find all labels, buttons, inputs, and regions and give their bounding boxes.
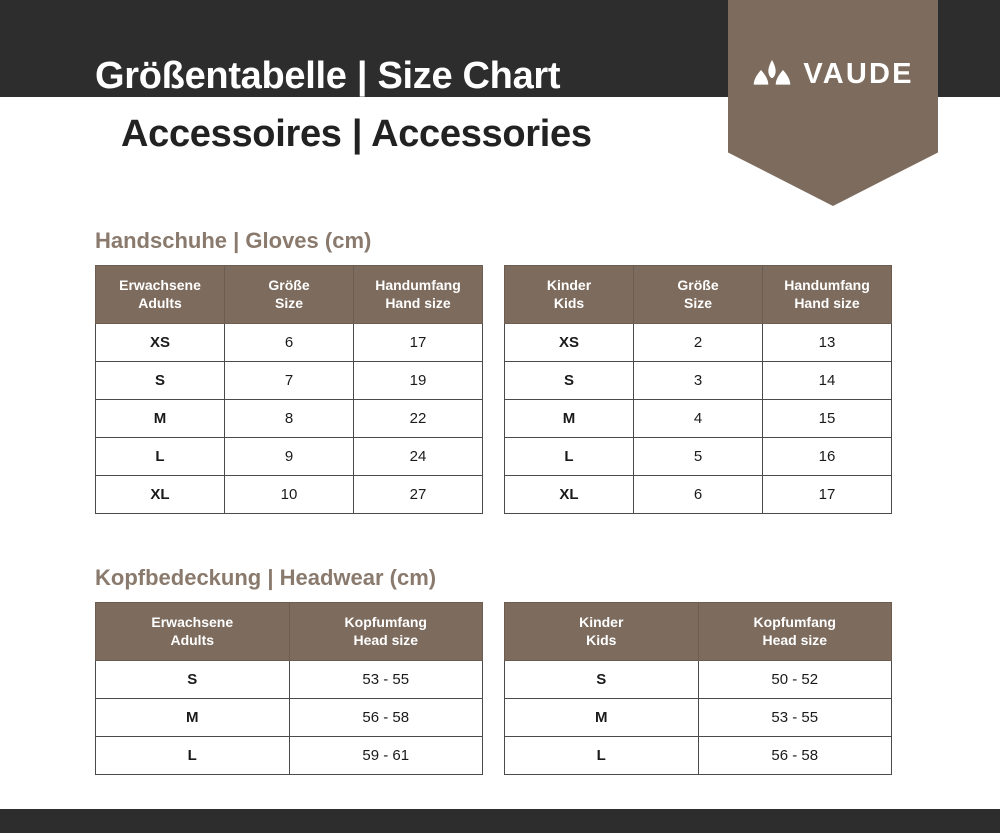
header-en: Head size bbox=[292, 632, 481, 650]
table-header-row: Erwachsene Adults Kopfumfang Head size bbox=[96, 603, 483, 661]
cell-size-label: S bbox=[96, 661, 290, 699]
column-header-measure: Handumfang Hand size bbox=[763, 266, 892, 324]
column-header-measure: Kopfumfang Head size bbox=[289, 603, 483, 661]
column-header-group: Erwachsene Adults bbox=[96, 266, 225, 324]
section-title-headwear: Kopfbedeckung | Headwear (cm) bbox=[95, 565, 436, 591]
table-row: XL 6 17 bbox=[505, 476, 892, 514]
table-headwear-kids: Kinder Kids Kopfumfang Head size S 50 - … bbox=[504, 602, 892, 775]
gloves-tables-row: Erwachsene Adults Größe Size Handumfang … bbox=[95, 265, 892, 514]
cell-size-value: 10 bbox=[225, 476, 354, 514]
cell-measure-value: 50 - 52 bbox=[698, 661, 892, 699]
cell-measure-value: 59 - 61 bbox=[289, 737, 483, 775]
cell-measure-value: 15 bbox=[763, 400, 892, 438]
table-header-row: Kinder Kids Kopfumfang Head size bbox=[505, 603, 892, 661]
table-row: S 50 - 52 bbox=[505, 661, 892, 699]
table-row: XS 6 17 bbox=[96, 324, 483, 362]
cell-measure-value: 22 bbox=[354, 400, 483, 438]
table-gloves-kids: Kinder Kids Größe Size Handumfang Hand s… bbox=[504, 265, 892, 514]
cell-size-label: L bbox=[96, 737, 290, 775]
cell-measure-value: 16 bbox=[763, 438, 892, 476]
cell-measure-value: 13 bbox=[763, 324, 892, 362]
section-title-gloves: Handschuhe | Gloves (cm) bbox=[95, 228, 371, 254]
cell-size-label: S bbox=[505, 661, 699, 699]
header-de: Erwachsene bbox=[98, 277, 222, 295]
table-row: M 56 - 58 bbox=[96, 699, 483, 737]
column-header-group: Kinder Kids bbox=[505, 603, 699, 661]
cell-size-value: 6 bbox=[634, 476, 763, 514]
header-de: Erwachsene bbox=[98, 614, 287, 632]
cell-size-label: M bbox=[505, 699, 699, 737]
vaude-three-petal-icon bbox=[752, 58, 792, 90]
header-en: Size bbox=[227, 295, 351, 313]
header-de: Kopfumfang bbox=[701, 614, 890, 632]
table-row: M 8 22 bbox=[96, 400, 483, 438]
table-headwear-adults: Erwachsene Adults Kopfumfang Head size S… bbox=[95, 602, 483, 775]
cell-measure-value: 53 - 55 bbox=[289, 661, 483, 699]
header-de: Größe bbox=[227, 277, 351, 295]
header-de: Kinder bbox=[507, 277, 631, 295]
cell-measure-value: 14 bbox=[763, 362, 892, 400]
cell-size-value: 5 bbox=[634, 438, 763, 476]
cell-size-label: XL bbox=[505, 476, 634, 514]
header-en: Kids bbox=[507, 632, 696, 650]
table-row: L 59 - 61 bbox=[96, 737, 483, 775]
header-de: Handumfang bbox=[356, 277, 480, 295]
column-header-size: Größe Size bbox=[634, 266, 763, 324]
brand-lockup: VAUDE bbox=[728, 58, 938, 90]
column-header-size: Größe Size bbox=[225, 266, 354, 324]
header-en: Adults bbox=[98, 632, 287, 650]
page-title: Größentabelle | Size Chart bbox=[95, 55, 560, 98]
header-en: Hand size bbox=[765, 295, 889, 313]
header-en: Hand size bbox=[356, 295, 480, 313]
cell-measure-value: 27 bbox=[354, 476, 483, 514]
cell-size-label: M bbox=[96, 699, 290, 737]
cell-size-label: L bbox=[505, 737, 699, 775]
cell-measure-value: 53 - 55 bbox=[698, 699, 892, 737]
cell-measure-value: 56 - 58 bbox=[289, 699, 483, 737]
cell-size-label: L bbox=[96, 438, 225, 476]
vaude-brand-banner: VAUDE bbox=[728, 0, 938, 206]
table-row: L 56 - 58 bbox=[505, 737, 892, 775]
cell-size-value: 3 bbox=[634, 362, 763, 400]
cell-size-label: XL bbox=[96, 476, 225, 514]
header-en: Head size bbox=[701, 632, 890, 650]
headwear-tables-row: Erwachsene Adults Kopfumfang Head size S… bbox=[95, 602, 892, 775]
vaude-wordmark: VAUDE bbox=[803, 60, 913, 89]
table-gloves-adults: Erwachsene Adults Größe Size Handumfang … bbox=[95, 265, 483, 514]
table-header-row: Kinder Kids Größe Size Handumfang Hand s… bbox=[505, 266, 892, 324]
column-header-group: Kinder Kids bbox=[505, 266, 634, 324]
cell-size-value: 6 bbox=[225, 324, 354, 362]
cell-size-value: 9 bbox=[225, 438, 354, 476]
cell-size-label: XS bbox=[96, 324, 225, 362]
cell-size-value: 7 bbox=[225, 362, 354, 400]
table-row: S 3 14 bbox=[505, 362, 892, 400]
table-row: XL 10 27 bbox=[96, 476, 483, 514]
header-de: Kinder bbox=[507, 614, 696, 632]
header-de: Größe bbox=[636, 277, 760, 295]
table-row: M 53 - 55 bbox=[505, 699, 892, 737]
column-header-group: Erwachsene Adults bbox=[96, 603, 290, 661]
column-header-measure: Handumfang Hand size bbox=[354, 266, 483, 324]
header-en: Kids bbox=[507, 295, 631, 313]
column-header-measure: Kopfumfang Head size bbox=[698, 603, 892, 661]
cell-size-label: S bbox=[505, 362, 634, 400]
table-header-row: Erwachsene Adults Größe Size Handumfang … bbox=[96, 266, 483, 324]
page-subtitle: Accessoires | Accessories bbox=[121, 113, 592, 156]
cell-size-label: M bbox=[505, 400, 634, 438]
footer-bar bbox=[0, 809, 1000, 833]
cell-size-label: S bbox=[96, 362, 225, 400]
table-row: S 7 19 bbox=[96, 362, 483, 400]
size-chart-page: Größentabelle | Size Chart Accessoires |… bbox=[0, 0, 1000, 833]
cell-size-label: L bbox=[505, 438, 634, 476]
cell-size-value: 4 bbox=[634, 400, 763, 438]
table-row: M 4 15 bbox=[505, 400, 892, 438]
cell-measure-value: 17 bbox=[354, 324, 483, 362]
header-de: Kopfumfang bbox=[292, 614, 481, 632]
cell-measure-value: 56 - 58 bbox=[698, 737, 892, 775]
cell-measure-value: 17 bbox=[763, 476, 892, 514]
cell-size-label: XS bbox=[505, 324, 634, 362]
cell-size-value: 2 bbox=[634, 324, 763, 362]
table-row: L 5 16 bbox=[505, 438, 892, 476]
header-en: Adults bbox=[98, 295, 222, 313]
table-row: S 53 - 55 bbox=[96, 661, 483, 699]
cell-size-label: M bbox=[96, 400, 225, 438]
header-en: Size bbox=[636, 295, 760, 313]
table-row: XS 2 13 bbox=[505, 324, 892, 362]
cell-measure-value: 19 bbox=[354, 362, 483, 400]
table-row: L 9 24 bbox=[96, 438, 483, 476]
cell-measure-value: 24 bbox=[354, 438, 483, 476]
cell-size-value: 8 bbox=[225, 400, 354, 438]
header-de: Handumfang bbox=[765, 277, 889, 295]
